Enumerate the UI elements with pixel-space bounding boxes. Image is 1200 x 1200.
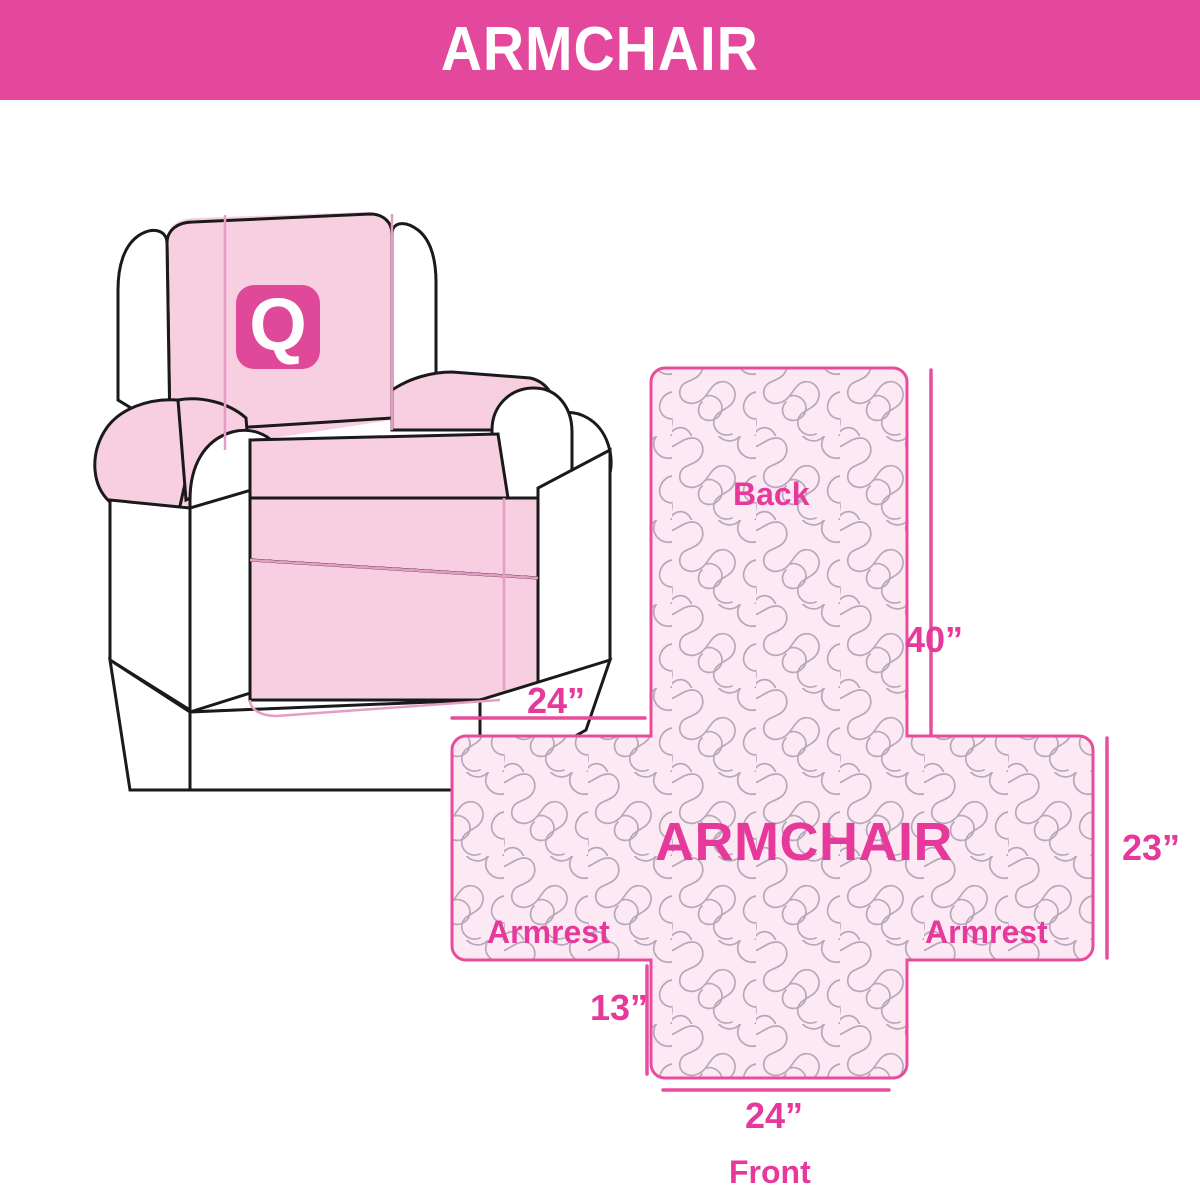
pattern-center-label: ARMCHAIR [655,815,953,869]
panel-label-armrest-right: Armrest [925,916,1048,948]
dimension-label-13: 13” [590,990,648,1026]
dimension-label-23: 23” [1122,830,1180,866]
panel-label-back: Back [733,478,810,510]
panel-label-armrest-left: Armrest [487,916,610,948]
header-banner: ARMCHAIR [0,0,1200,100]
panel-label-front: Front [729,1156,811,1188]
dimension-label-40: 40” [905,622,963,658]
cover-outline [452,368,1093,1078]
page-title: ARMCHAIR [441,19,759,81]
flat-cover-pattern [0,100,1200,1200]
illustration-canvas: Q [0,100,1200,1200]
dimension-label-24-top: 24” [527,683,585,719]
dimension-label-24-bottom: 24” [745,1098,803,1134]
